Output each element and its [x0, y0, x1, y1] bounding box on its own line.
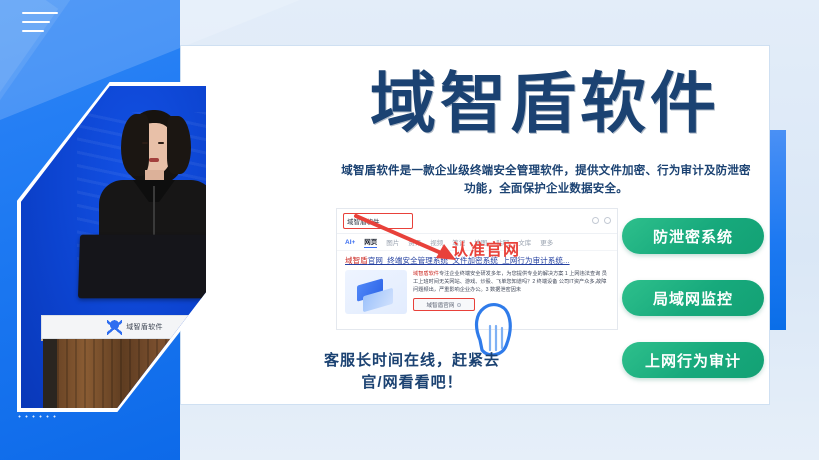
button-internet-behavior-audit[interactable]: 上网行为审计 [622, 342, 764, 378]
laptop [78, 235, 206, 299]
presenter-lips [149, 158, 159, 162]
official-site-label: 域智盾官网 [427, 301, 455, 309]
tab-web[interactable]: 网页 [364, 236, 377, 248]
cta-line-2: 官/网看看吧！ [272, 372, 552, 394]
page-title: 域智盾软件 [336, 70, 754, 137]
podium-logo-icon [107, 320, 122, 335]
cta-line-1: 客服长时间在线，赶紧去 [272, 350, 552, 372]
menu-line-1 [22, 12, 58, 14]
result-description: 域智盾软件专注企业终端安全研发多年，为您提供专业的解决方案 1 上网违法查询 员… [413, 270, 609, 294]
call-to-action-text: 客服长时间在线，赶紧去 官/网看看吧！ [272, 350, 552, 394]
verify-official-site-annotation: 认准官网 [452, 236, 520, 260]
feature-button-group: 防泄密系统 局域网监控 上网行为审计 [622, 218, 764, 378]
search-icon[interactable] [604, 217, 611, 224]
presenter-eye-left [142, 142, 148, 144]
right-accent-bar [770, 130, 786, 330]
tab-images[interactable]: 图片 [386, 237, 399, 247]
menu-line-2 [22, 21, 50, 23]
result-title-highlight: 域智盾 [345, 256, 368, 265]
podium-brand-text: 域智盾软件 [126, 322, 163, 332]
presenter-eye-right [158, 142, 164, 144]
result-desc-text: 专注企业终端安全研发多年，为您提供专业的解决方案 1 上网违法查询 员工上班时间… [413, 271, 607, 293]
poster-stage: 域智盾软件 域智盾软件 域智盾软件是一款企业级终端安全管理软件，提供文件加密、行… [0, 0, 819, 460]
hamburger-menu-icon[interactable] [22, 12, 58, 38]
button-anti-leak-system[interactable]: 防泄密系统 [622, 218, 764, 254]
presenter-hair-left [121, 114, 149, 176]
tab-video[interactable]: 视频 [430, 237, 443, 247]
result-desc-highlight: 域智盾软件 [413, 271, 439, 277]
tab-news[interactable]: 资讯 [408, 237, 421, 247]
camera-icon[interactable] [592, 217, 599, 224]
tab-library[interactable]: 文库 [518, 237, 531, 247]
search-input[interactable]: 域智盾软件 [343, 213, 413, 229]
button-lan-monitoring[interactable]: 局域网监控 [622, 280, 764, 316]
page-subtitle: 域智盾软件是一款企业级终端安全管理软件，提供文件加密、行为审计及防泄密功能，全面… [340, 163, 752, 199]
browser-top-icons [592, 217, 611, 224]
result-thumbnail [345, 270, 407, 314]
chevron-down-icon [457, 303, 461, 307]
tab-ai[interactable]: AI+ [345, 239, 355, 246]
menu-line-3 [22, 30, 44, 32]
browser-top-bar: 域智盾软件 [337, 209, 617, 234]
official-site-button[interactable]: 域智盾官网 [413, 298, 475, 311]
tab-more[interactable]: 更多 [540, 237, 553, 247]
